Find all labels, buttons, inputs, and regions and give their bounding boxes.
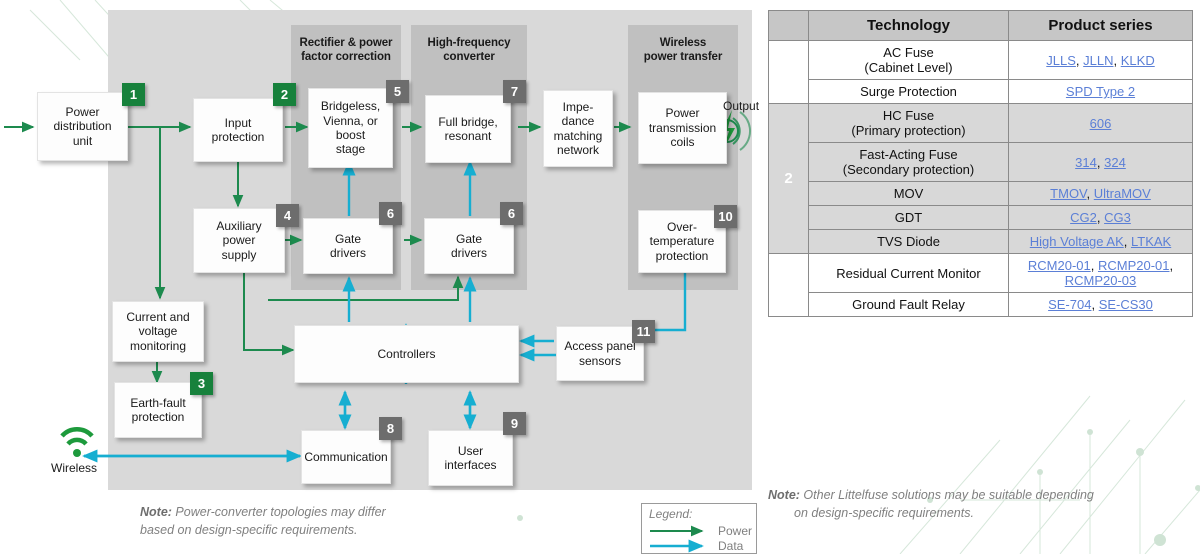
block-current-and-voltage-monitoring[interactable]: Current andvoltagemonitoring — [112, 301, 204, 362]
product-link[interactable]: JLLN — [1083, 53, 1113, 68]
block-over-temperature-protection[interactable]: Over-temperatureprotection — [638, 210, 726, 273]
block-access-panel-sensors[interactable]: Access panelsensors — [556, 326, 644, 381]
block-full-bridge-resonant[interactable]: Full bridge,resonant — [425, 95, 511, 163]
table-row: 2HC Fuse(Primary protection)606 — [769, 104, 1193, 143]
cell-technology: AC Fuse(Cabinet Level) — [809, 41, 1009, 80]
cell-technology: TVS Diode — [809, 230, 1009, 254]
cell-product-series: SPD Type 2 — [1009, 80, 1193, 104]
cell-technology: Fast-Acting Fuse(Secondary protection) — [809, 143, 1009, 182]
product-link[interactable]: 324 — [1104, 155, 1126, 170]
cell-technology: MOV — [809, 182, 1009, 206]
product-link[interactable]: RCMP20-01 — [1098, 258, 1170, 273]
block-gate-drivers-1[interactable]: Gatedrivers — [303, 218, 393, 274]
tag-8[interactable]: 8 — [379, 417, 402, 440]
tag-3[interactable]: 3 — [190, 372, 213, 395]
tag-2[interactable]: 2 — [273, 83, 296, 106]
tag-1[interactable]: 1 — [122, 83, 145, 106]
table-row: MOVTMOV, UltraMOV — [769, 182, 1193, 206]
cell-product-series: CG2, CG3 — [1009, 206, 1193, 230]
block-earth-fault-protection[interactable]: Earth-faultprotection — [114, 382, 202, 438]
block-controllers[interactable]: Controllers — [294, 325, 519, 383]
table-row: 3Residual Current MonitorRCM20-01, RCMP2… — [769, 254, 1193, 293]
cell-product-series: 606 — [1009, 104, 1193, 143]
diagram-note-line2: based on design-specific requirements. — [140, 523, 357, 537]
tag-11[interactable]: 11 — [632, 320, 655, 343]
table-row: TVS DiodeHigh Voltage AK, LTKAK — [769, 230, 1193, 254]
diagram-note-line1: Power-converter topologies may differ — [172, 505, 386, 519]
cell-product-series: TMOV, UltraMOV — [1009, 182, 1193, 206]
product-link[interactable]: RCMP20-03 — [1065, 273, 1137, 288]
product-link[interactable]: SPD Type 2 — [1066, 84, 1135, 99]
table-body: 1AC Fuse(Cabinet Level)JLLS, JLLN, KLKDS… — [769, 41, 1193, 317]
table-header-row: Technology Product series — [769, 11, 1193, 41]
product-link[interactable]: CG3 — [1104, 210, 1131, 225]
row-group-index: 3 — [769, 254, 809, 317]
product-link[interactable]: 314 — [1075, 155, 1097, 170]
table-row: Surge ProtectionSPD Type 2 — [769, 80, 1193, 104]
block-power-transmission-coils[interactable]: Powertransmissioncoils — [638, 92, 727, 164]
cell-technology: GDT — [809, 206, 1009, 230]
block-gate-drivers-2[interactable]: Gatedrivers — [424, 218, 514, 274]
block-bridgeless-vienna-boost-stage[interactable]: Bridgeless,Vienna, orbooststage — [308, 88, 393, 168]
tag-4[interactable]: 4 — [276, 204, 299, 227]
product-table-wrap: Technology Product series 1AC Fuse(Cabin… — [768, 10, 1192, 317]
legend: Legend: Power Data — [641, 503, 757, 554]
product-link[interactable]: KLKD — [1121, 53, 1155, 68]
cell-technology: Residual Current Monitor — [809, 254, 1009, 293]
product-link[interactable]: SE-704 — [1048, 297, 1091, 312]
block-impedance-matching-network[interactable]: Impe-dancematchingnetwork — [543, 90, 613, 167]
tag-6-b[interactable]: 6 — [500, 202, 523, 225]
product-link[interactable]: TMOV — [1050, 186, 1086, 201]
product-link[interactable]: LTKAK — [1131, 234, 1171, 249]
header-product-series: Product series — [1009, 11, 1193, 41]
product-table: Technology Product series 1AC Fuse(Cabin… — [768, 10, 1193, 317]
wireless-wifi-icon — [62, 429, 92, 457]
block-user-interfaces[interactable]: Userinterfaces — [428, 430, 513, 486]
cell-product-series: High Voltage AK, LTKAK — [1009, 230, 1193, 254]
cell-product-series: JLLS, JLLN, KLKD — [1009, 41, 1193, 80]
table-note-line2: on design-specific requirements. — [768, 504, 1168, 522]
table-row: Ground Fault RelaySE-704, SE-CS30 — [769, 293, 1193, 317]
product-link[interactable]: SE-CS30 — [1099, 297, 1153, 312]
product-link[interactable]: 606 — [1090, 116, 1112, 131]
tag-6-a[interactable]: 6 — [379, 202, 402, 225]
tag-10[interactable]: 10 — [714, 205, 737, 228]
tag-7[interactable]: 7 — [503, 80, 526, 103]
product-link[interactable]: JLLS — [1046, 53, 1076, 68]
diagram-note: Note: Power-converter topologies may dif… — [140, 503, 470, 539]
label-wireless: Wireless — [51, 461, 97, 475]
header-index — [769, 11, 809, 41]
cell-product-series: 314, 324 — [1009, 143, 1193, 182]
table-row: Fast-Acting Fuse(Secondary protection)31… — [769, 143, 1193, 182]
block-diagram: Rectifier & powerfactor correction High-… — [0, 0, 760, 554]
product-link[interactable]: High Voltage AK — [1030, 234, 1124, 249]
table-note-prefix: Note: — [768, 488, 800, 502]
block-input-protection[interactable]: Inputprotection — [193, 98, 283, 162]
cell-product-series: RCM20-01, RCMP20-01, RCMP20-03 — [1009, 254, 1193, 293]
cell-product-series: SE-704, SE-CS30 — [1009, 293, 1193, 317]
product-link[interactable]: UltraMOV — [1094, 186, 1151, 201]
tag-5[interactable]: 5 — [386, 80, 409, 103]
table-row: 1AC Fuse(Cabinet Level)JLLS, JLLN, KLKD — [769, 41, 1193, 80]
legend-arrows — [642, 504, 758, 555]
block-communication[interactable]: Communication — [301, 430, 391, 484]
block-power-distribution-unit[interactable]: Powerdistributionunit — [37, 92, 128, 161]
diagram-note-prefix: Note: — [140, 505, 172, 519]
block-auxiliary-power-supply[interactable]: Auxiliarypowersupply — [193, 208, 285, 273]
table-note-line1: Other Littelfuse solutions may be suitab… — [800, 488, 1094, 502]
table-note: Note: Other Littelfuse solutions may be … — [768, 486, 1168, 522]
label-output: Output — [723, 99, 759, 113]
product-link[interactable]: CG2 — [1070, 210, 1097, 225]
tag-9[interactable]: 9 — [503, 412, 526, 435]
cell-technology: Surge Protection — [809, 80, 1009, 104]
header-technology: Technology — [809, 11, 1009, 41]
cell-technology: Ground Fault Relay — [809, 293, 1009, 317]
cell-technology: HC Fuse(Primary protection) — [809, 104, 1009, 143]
row-group-index: 2 — [769, 104, 809, 254]
product-link[interactable]: RCM20-01 — [1028, 258, 1091, 273]
row-group-index: 1 — [769, 41, 809, 104]
table-row: GDTCG2, CG3 — [769, 206, 1193, 230]
